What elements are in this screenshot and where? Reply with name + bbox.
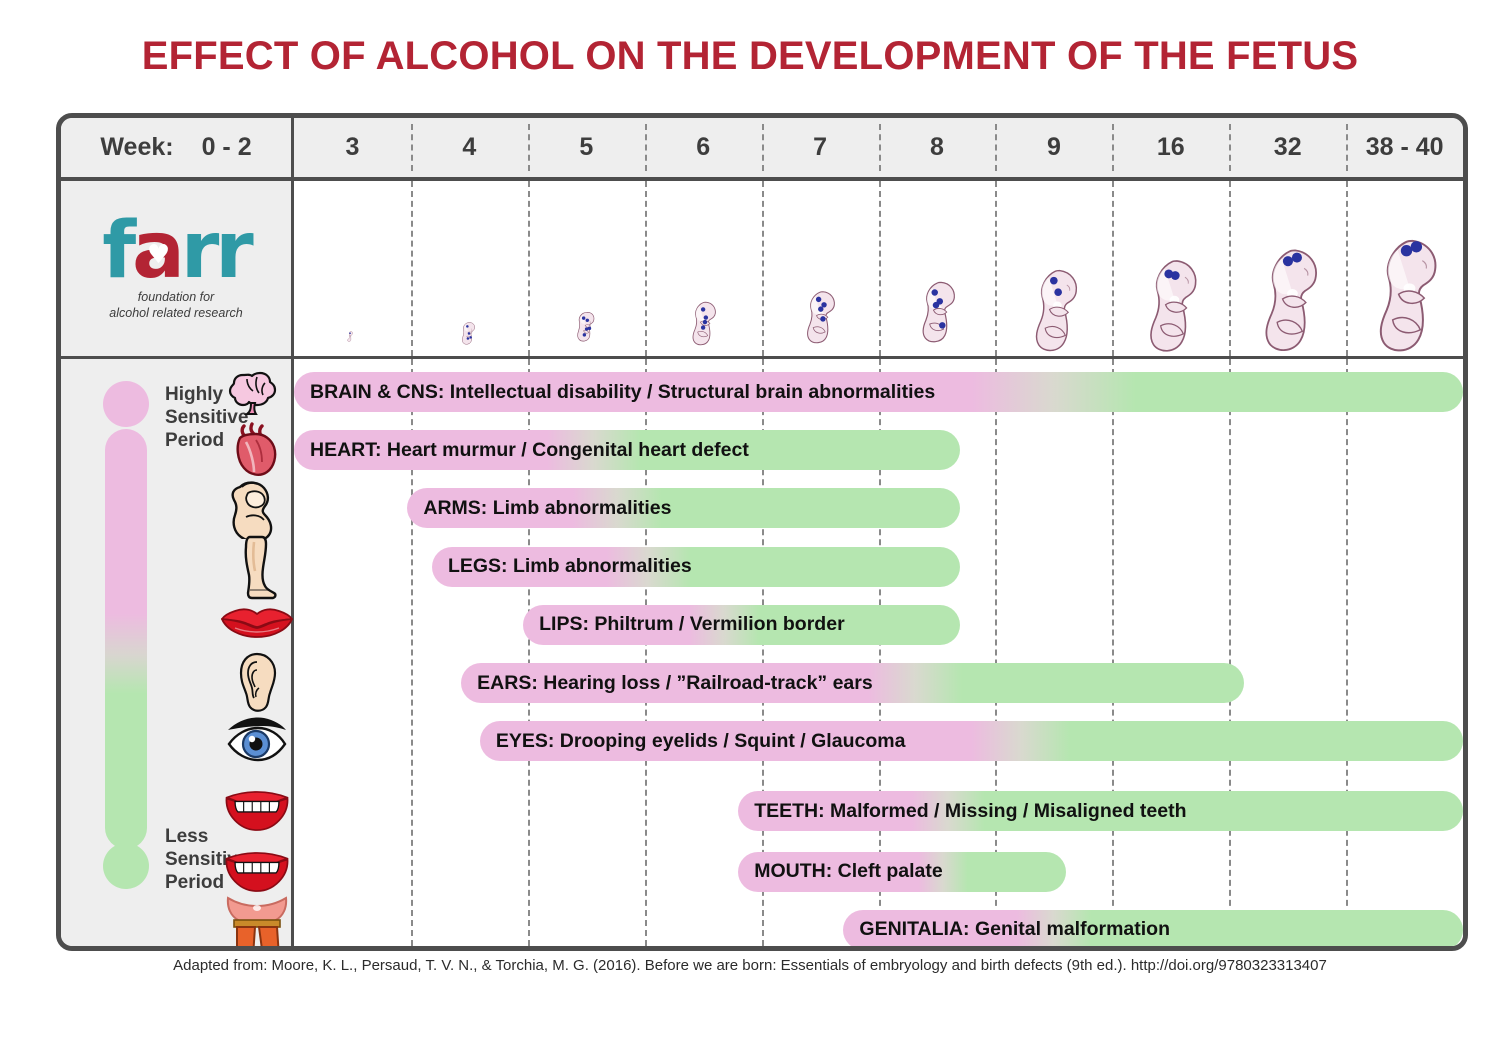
week-header-16: 16 xyxy=(1112,118,1229,177)
embryo-figure xyxy=(458,317,480,353)
lips-icon xyxy=(216,596,298,654)
organ-bar-label: BRAIN & CNS: Intellectual disability / S… xyxy=(294,381,935,404)
organ-bar-label: LIPS: Philtrum / Vermilion border xyxy=(523,613,845,636)
week-header-5: 5 xyxy=(528,118,645,177)
table-row: EARS: Hearing loss / ”Railroad-track” ea… xyxy=(294,654,1463,712)
week-header-label-cell: Week: 0 - 2 xyxy=(61,118,294,177)
logo-tagline-line2: alcohol related research xyxy=(102,306,250,322)
organ-bar-label: MOUTH: Cleft palate xyxy=(738,860,943,883)
embryo-week-16 xyxy=(1112,181,1229,356)
arm-icon xyxy=(216,479,298,537)
organ-bar-brain-cns[interactable]: BRAIN & CNS: Intellectual disability / S… xyxy=(294,372,1463,412)
chart-frame: Week: 0 - 2 3456789163238 - 40 fa♥rr fou… xyxy=(56,113,1468,951)
table-row: EYES: Drooping eyelids / Squint / Glauco… xyxy=(294,712,1463,770)
embryo-week-3 xyxy=(294,181,411,356)
farr-wordmark: fa♥rr xyxy=(102,216,250,286)
organ-rows: BRAIN & CNS: Intellectual disability / S… xyxy=(294,359,1463,946)
embryo-week-7 xyxy=(762,181,879,356)
logo-letters-rr: rr xyxy=(181,206,250,296)
logo-cell: fa♥rr foundation for alcohol related res… xyxy=(61,181,294,356)
organ-bar-eyes[interactable]: EYES: Drooping eyelids / Squint / Glauco… xyxy=(480,721,1463,761)
leg-icon xyxy=(216,538,298,596)
week-header-cells: 3456789163238 - 40 xyxy=(294,118,1463,177)
bars-panel: BRAIN & CNS: Intellectual disability / S… xyxy=(294,359,1463,946)
organ-bar-teeth[interactable]: TEETH: Malformed / Missing / Misaligned … xyxy=(738,791,1463,831)
organ-bar-label: TEETH: Malformed / Missing / Misaligned … xyxy=(738,800,1186,823)
embryo-figure xyxy=(1252,236,1324,352)
legend-green-dot xyxy=(103,843,149,889)
teeth-icon xyxy=(216,782,298,840)
organ-bar-arms[interactable]: ARMS: Limb abnormalities xyxy=(407,488,960,528)
embryo-week-8 xyxy=(879,181,996,356)
table-row: HEART: Heart murmur / Congenital heart d… xyxy=(294,421,1463,479)
organ-bar-label: EARS: Hearing loss / ”Railroad-track” ea… xyxy=(461,672,873,695)
embryo-figure xyxy=(798,282,841,352)
embryo-week-6 xyxy=(645,181,762,356)
organ-bar-label: EYES: Drooping eyelids / Squint / Glauco… xyxy=(480,730,906,753)
week-header-row: Week: 0 - 2 3456789163238 - 40 xyxy=(61,118,1463,181)
week-header-9: 9 xyxy=(995,118,1112,177)
embryo-cells xyxy=(294,181,1463,356)
organ-bar-label: GENITALIA: Genital malformation xyxy=(843,918,1170,941)
chart-body: Highly Sensitive Period Less Sensitive P… xyxy=(61,359,1463,946)
legend-gradient-bar xyxy=(105,429,147,849)
table-row: ARMS: Limb abnormalities xyxy=(294,479,1463,537)
organ-bar-ears[interactable]: EARS: Hearing loss / ”Railroad-track” ea… xyxy=(461,663,1244,703)
infographic-page: EFFECT OF ALCOHOL ON THE DEVELOPMENT OF … xyxy=(0,0,1500,1061)
embryo-week-38-40 xyxy=(1346,181,1463,356)
heart-icon xyxy=(216,421,298,479)
embryo-figure xyxy=(1138,248,1203,353)
table-row: BRAIN & CNS: Intellectual disability / S… xyxy=(294,363,1463,421)
embryo-figure xyxy=(1025,259,1083,352)
week-label: Week: xyxy=(100,133,173,162)
week-header-6: 6 xyxy=(645,118,762,177)
organ-bar-label: LEGS: Limb abnormalities xyxy=(432,555,692,578)
week-header-7: 7 xyxy=(762,118,879,177)
table-row: TEETH: Malformed / Missing / Misaligned … xyxy=(294,782,1463,840)
embryo-figure xyxy=(345,328,360,352)
genitalia-icon xyxy=(216,901,298,951)
embryo-figure xyxy=(912,271,963,353)
farr-logo: fa♥rr foundation for alcohol related res… xyxy=(102,216,250,321)
logo-letter-a: a♥ xyxy=(132,216,181,286)
week-header-8: 8 xyxy=(879,118,996,177)
embryo-figure xyxy=(685,294,721,353)
embryo-week-5 xyxy=(528,181,645,356)
heart-icon: ♥ xyxy=(147,242,166,268)
organ-bar-heart[interactable]: HEART: Heart murmur / Congenital heart d… xyxy=(294,430,960,470)
week-header-32: 32 xyxy=(1229,118,1346,177)
embryo-illustration-row: fa♥rr foundation for alcohol related res… xyxy=(61,181,1463,359)
brain-icon xyxy=(216,363,298,421)
week-header-3: 3 xyxy=(294,118,411,177)
logo-letter-f: f xyxy=(102,206,132,296)
embryo-week-4 xyxy=(411,181,528,356)
organ-bar-label: ARMS: Limb abnormalities xyxy=(407,497,671,520)
week-header-38-40: 38 - 40 xyxy=(1346,118,1463,177)
ear-icon xyxy=(216,654,298,712)
table-row: LEGS: Limb abnormalities xyxy=(294,538,1463,596)
table-row: MOUTH: Cleft palate xyxy=(294,843,1463,901)
page-title: EFFECT OF ALCOHOL ON THE DEVELOPMENT OF … xyxy=(0,34,1500,79)
embryo-week-32 xyxy=(1229,181,1346,356)
table-row: LIPS: Philtrum / Vermilion border xyxy=(294,596,1463,654)
organ-bar-label: HEART: Heart murmur / Congenital heart d… xyxy=(294,439,749,462)
embryo-week-9 xyxy=(995,181,1112,356)
organ-bar-genitalia[interactable]: GENITALIA: Genital malformation xyxy=(843,910,1463,950)
organ-bar-mouth[interactable]: MOUTH: Cleft palate xyxy=(738,852,1065,892)
week-value-0-2: 0 - 2 xyxy=(202,133,252,162)
embryo-figure xyxy=(572,305,601,352)
table-row: GENITALIA: Genital malformation xyxy=(294,901,1463,951)
legend-pink-dot xyxy=(103,381,149,427)
organ-bar-lips[interactable]: LIPS: Philtrum / Vermilion border xyxy=(523,605,960,645)
source-citation: Adapted from: Moore, K. L., Persaud, T. … xyxy=(0,957,1500,974)
embryo-figure xyxy=(1365,225,1444,353)
organ-bar-legs[interactable]: LEGS: Limb abnormalities xyxy=(432,547,960,587)
week-header-4: 4 xyxy=(411,118,528,177)
eye-icon xyxy=(216,712,298,770)
